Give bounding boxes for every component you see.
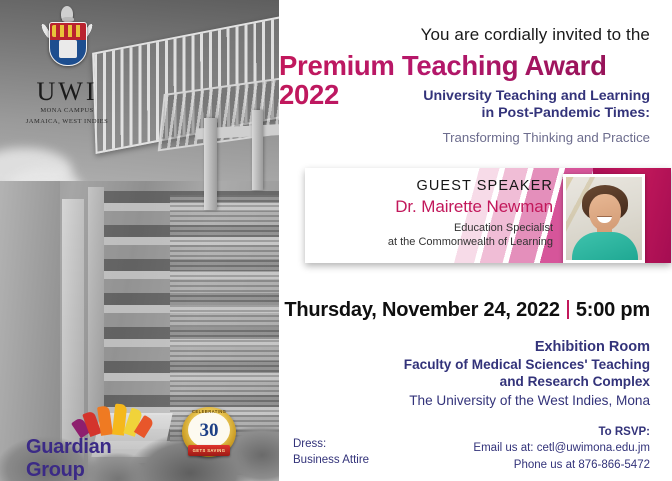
theme-heading: University Teaching and Learning in Post… [423, 88, 650, 123]
event-date: Thursday, November 24, 2022 [284, 299, 559, 321]
guardian-group-logo: Guardian Group Guardian Life Limited [26, 399, 172, 481]
canopy-post [204, 118, 217, 210]
dress-code-value: Business Attire [293, 453, 369, 469]
uwi-crest-icon [37, 6, 97, 78]
theme-line-1: University Teaching and Learning [423, 88, 650, 105]
theme-subtitle: Transforming Thinking and Practice [443, 130, 650, 146]
dress-code-label: Dress: [293, 437, 369, 453]
anniversary-badge: 30 CELEBRATING GETS SAVING [182, 407, 236, 457]
canopy-post [252, 110, 263, 190]
anniversary-ribbon-text: GETS SAVING [193, 448, 226, 453]
uwi-campus-line1: MONA CAMPUS [14, 107, 120, 116]
speaker-details: GUEST SPEAKER Dr. Mairette Newman Educat… [305, 178, 553, 250]
guardian-fan-logo-icon [78, 399, 152, 435]
uwi-campus-line2: JAMAICA, WEST INDIES [14, 118, 120, 127]
event-datetime: Thursday, November 24, 20225:00 pm [284, 299, 650, 322]
speaker-name: Dr. Mairette Newman [305, 197, 553, 217]
guardian-group-name: Guardian Group [26, 436, 172, 481]
rsvp-label: To RSVP: [598, 426, 650, 438]
anniversary-top-text: CELEBRATING [192, 409, 226, 414]
invitation-line: You are cordially invited to the [421, 25, 650, 45]
speaker-role-line-2: at the Commonwealth of Learning [305, 235, 553, 249]
crest-shield-chief [52, 25, 82, 37]
event-venue: Exhibition Room Faculty of Medical Scien… [404, 339, 650, 408]
speaker-role-line-1: Education Specialist [305, 221, 553, 235]
content-panel: You are cordially invited to the Premium… [279, 0, 672, 481]
guest-speaker-label: GUEST SPEAKER [305, 178, 553, 194]
invitation-flyer: UWI MONA CAMPUS JAMAICA, WEST INDIES Gua… [0, 0, 672, 481]
venue-building-line-1: Faculty of Medical Sciences' Teaching [404, 357, 650, 374]
rsvp-phone[interactable]: Phone us at 876-866-5472 [473, 457, 650, 473]
theme-line-2: in Post-Pandemic Times: [423, 105, 650, 122]
guest-speaker-card: GUEST SPEAKER Dr. Mairette Newman Educat… [305, 168, 671, 263]
rsvp-email[interactable]: Email us at: cetl@uwimona.edu.jm [473, 440, 650, 456]
anniversary-badge-inner: 30 [188, 412, 230, 448]
headshot-face [589, 194, 621, 231]
anniversary-number: 30 [200, 421, 219, 440]
venue-room: Exhibition Room [404, 339, 650, 355]
event-time: 5:00 pm [576, 299, 650, 321]
venue-building-line-2: and Research Complex [404, 374, 650, 391]
building-photo: UWI MONA CAMPUS JAMAICA, WEST INDIES Gua… [0, 0, 279, 481]
rsvp-block: To RSVP: Email us at: cetl@uwimona.edu.j… [473, 424, 650, 473]
venue-institution: The University of the West Indies, Mona [404, 393, 650, 408]
datetime-separator [567, 300, 569, 319]
sponsor-logos: Guardian Group Guardian Life Limited 30 … [26, 393, 252, 469]
anniversary-ribbon: GETS SAVING [188, 445, 230, 456]
dress-code: Dress: Business Attire [293, 437, 369, 469]
speaker-headshot [563, 174, 645, 263]
crest-bird-icon [61, 6, 73, 22]
crest-shield-book [59, 40, 77, 58]
uwi-wordmark: UWI [14, 79, 120, 105]
uwi-logo: UWI MONA CAMPUS JAMAICA, WEST INDIES [14, 6, 120, 127]
crest-shield-icon [49, 22, 87, 66]
